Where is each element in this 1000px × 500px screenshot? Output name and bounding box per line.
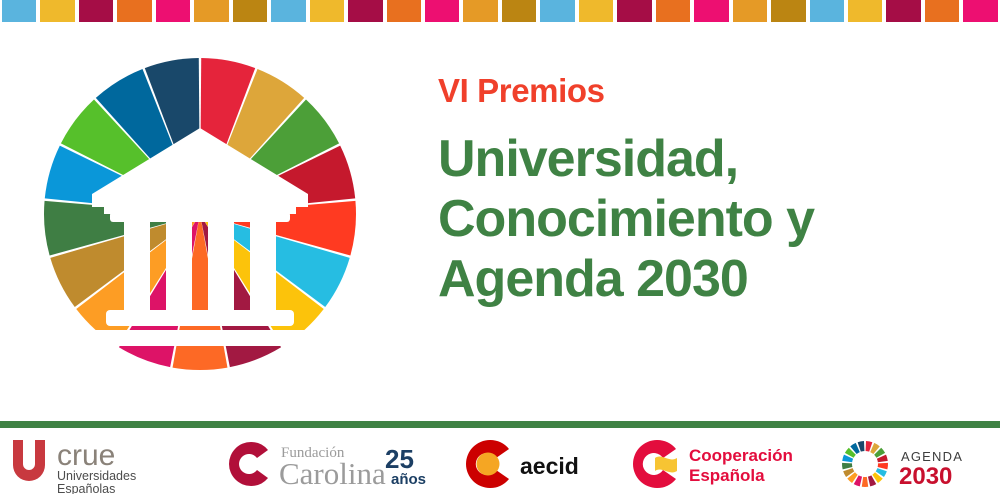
top-strip-swatch	[231, 0, 269, 22]
top-strip-swatch	[385, 0, 423, 22]
top-strip-swatch	[500, 0, 538, 22]
sdg-wheel-emblem-icon	[40, 54, 360, 374]
title-line-1: Universidad,	[438, 129, 978, 189]
crue-subtitle-line2: Españolas	[57, 482, 115, 494]
top-strip-swatch	[846, 0, 884, 22]
top-strip-swatch	[38, 0, 76, 22]
top-strip-swatch	[346, 0, 384, 22]
agenda-ring-segment	[842, 463, 852, 469]
agenda-2030-logo: AGENDA 2030	[830, 428, 1000, 500]
top-strip-swatch	[423, 0, 461, 22]
eyebrow-text: VI Premios	[438, 74, 978, 109]
top-strip-swatch	[308, 0, 346, 22]
top-strip-swatch	[115, 0, 153, 22]
top-strip-swatch	[538, 0, 576, 22]
coopesp-line1: Cooperación	[689, 446, 793, 465]
carolina-badge-number: 25	[385, 444, 414, 474]
agenda-ring-segment	[877, 463, 887, 469]
top-strip-swatch	[154, 0, 192, 22]
top-color-strip	[0, 0, 1000, 22]
hero-section: VI Premios Universidad, Conocimiento y A…	[0, 22, 1000, 421]
top-strip-swatch	[192, 0, 230, 22]
headline-block: VI Premios Universidad, Conocimiento y A…	[438, 74, 978, 310]
top-strip-swatch	[731, 0, 769, 22]
cooperacion-espanola-logo: Cooperación Española	[620, 428, 830, 500]
top-strip-swatch	[808, 0, 846, 22]
poster-canvas: VI Premios Universidad, Conocimiento y A…	[0, 0, 1000, 500]
agenda-line2: 2030	[899, 463, 952, 490]
top-strip-swatch	[615, 0, 653, 22]
top-strip-swatch	[884, 0, 922, 22]
top-strip-swatch	[961, 0, 999, 22]
top-strip-swatch	[0, 0, 38, 22]
top-strip-swatch	[269, 0, 307, 22]
coopesp-line2: Española	[689, 466, 765, 485]
carolina-badge-word: años	[391, 471, 426, 488]
page-title: Universidad, Conocimiento y Agenda 2030	[438, 129, 978, 310]
footer-logo-bar: crue Universidades Españolas Fundación C…	[0, 428, 1000, 500]
top-strip-swatch	[692, 0, 730, 22]
top-strip-swatch	[577, 0, 615, 22]
aecid-wordmark: aecid	[520, 453, 579, 479]
top-strip-swatch	[77, 0, 115, 22]
top-strip-swatch	[923, 0, 961, 22]
aecid-logo: aecid	[445, 428, 620, 500]
title-line-2: Conocimiento y	[438, 189, 978, 249]
fundacion-carolina-logo: Fundación Carolina 25 años	[210, 428, 445, 500]
crue-subtitle-line1: Universidades	[57, 469, 136, 483]
crue-wordmark: crue	[57, 439, 115, 472]
top-strip-swatch	[654, 0, 692, 22]
carolina-line2: Carolina	[279, 456, 386, 491]
title-line-3: Agenda 2030	[438, 249, 978, 309]
green-divider	[0, 421, 1000, 428]
top-strip-swatch	[769, 0, 807, 22]
crue-logo: crue Universidades Españolas	[0, 428, 210, 500]
agenda-ring-segment	[861, 477, 867, 487]
top-strip-swatch	[461, 0, 499, 22]
agenda-line1: AGENDA	[901, 449, 963, 464]
